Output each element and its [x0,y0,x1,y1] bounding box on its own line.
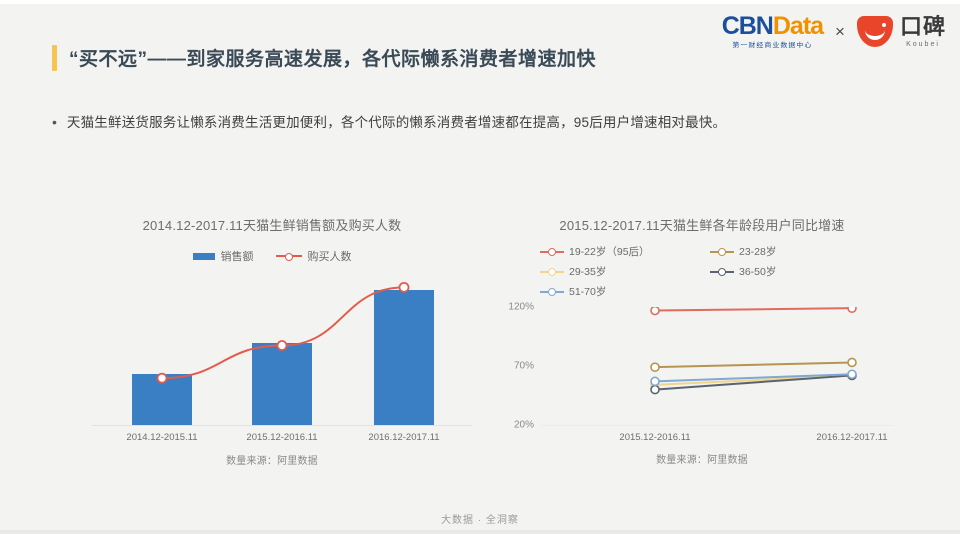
right-chart-title: 2015.12-2017.11天猫生鲜各年龄段用户同比增速 [492,215,912,234]
bar-group [252,343,312,425]
legend-label-buyers: 购买人数 [308,248,352,264]
koubei-name-en: Koubei [906,41,940,48]
bullet-row: • 天猫生鲜送货服务让懒系消费生活更加便利，各个代际的懒系消费者增速都在提高，9… [52,114,726,132]
legend-label-29-35: 29-35岁 [569,264,606,279]
cbndata-tagline: 第一财经商业数据中心 [732,42,812,48]
legend-swatch-23-28-icon [710,248,734,256]
right-chart-plot: 120%70%20% 2015.12-2016.112016.12-2017.1… [540,307,894,425]
legend-label-23-28: 23-28岁 [739,244,776,259]
slide-top-edge [0,0,960,4]
bullet-text: 天猫生鲜送货服务让懒系消费生活更加便利，各个代际的懒系消费者增速都在提高，95后… [67,114,726,132]
title-accent-bar [52,45,57,71]
legend-swatch-36-50-icon [710,268,734,276]
legend-item-36-50[interactable]: 36-50岁 [710,264,860,279]
y-axis-tick-label: 20% [514,420,534,431]
bullet-marker: • [52,114,57,131]
koubei-smile-icon [857,16,893,47]
bar-group [132,374,192,425]
bar [132,374,192,425]
legend-swatch-19-22-icon [540,248,564,256]
slide-footer: 大数据 · 全洞察 [0,511,960,526]
koubei-name-cn: 口碑 [900,16,946,38]
cbndata-wordmark-data: Data [773,12,823,40]
legend-swatch-line-icon [276,252,302,260]
legend-item-sales[interactable]: 销售额 [193,248,254,264]
x-axis-label: 2014.12-2015.11 [126,432,197,443]
bar [374,290,434,425]
legend-label-36-50: 36-50岁 [739,264,776,279]
brand-lockup: CBNData 第一财经商业数据中心 × 口碑 Koubei [722,14,946,49]
left-chart-bars [92,276,472,425]
legend-item-buyers[interactable]: 购买人数 [276,248,352,264]
legend-label-19-22: 19-22岁（95后） [569,244,650,259]
right-chart-source: 数量来源：阿里数据 [492,451,912,466]
legend-item-51-70[interactable]: 51-70岁 [540,284,710,299]
left-chart-source: 数量来源：阿里数据 [62,452,482,467]
right-chart-lines [540,307,894,425]
legend-label-51-70: 51-70岁 [569,284,606,299]
slide-bottom-edge [0,530,960,534]
right-chart-legend: 19-22岁（95后） 23-28岁 29-35岁 36-50岁 51-70岁 [540,244,912,299]
slide-title-row: “买不远”——到家服务高速发展，各代际懒系消费者增速加快 [52,44,596,71]
left-chart-plot: 2014.12-2015.112015.12-2016.112016.12-20… [92,276,472,426]
x-axis-label: 2015.12-2016.11 [619,432,690,443]
koubei-wordmark: 口碑 Koubei [900,16,946,48]
right-chart-x-labels: 2015.12-2016.112016.12-2017.11 [540,432,894,448]
y-axis-tick-label: 120% [508,302,534,313]
cbndata-wordmark: CBNData [722,14,823,39]
brand-separator-x: × [835,22,845,42]
bar [252,343,312,425]
bar-group [374,290,434,425]
slide-root: CBNData 第一财经商业数据中心 × 口碑 Koubei “买不远”——到家… [0,0,960,534]
charts-region: 2014.12-2017.11天猫生鲜销售额及购买人数 销售额 购买人数 201… [0,215,960,505]
cbndata-wordmark-cbn: CBN [722,12,773,40]
koubei-logo: 口碑 Koubei [857,16,946,48]
x-axis-label: 2016.12-2017.11 [816,432,887,443]
legend-item-19-22[interactable]: 19-22岁（95后） [540,244,710,259]
legend-swatch-bar-icon [193,253,215,260]
left-chart-x-labels: 2014.12-2015.112015.12-2016.112016.12-20… [92,426,472,446]
chart-age-growth: 2015.12-2017.11天猫生鲜各年龄段用户同比增速 19-22岁（95后… [492,215,912,466]
legend-label-sales: 销售额 [221,248,254,264]
legend-item-23-28[interactable]: 23-28岁 [710,244,860,259]
grid-line [540,425,894,426]
legend-swatch-51-70-icon [540,288,564,296]
x-axis-label: 2016.12-2017.11 [368,432,439,443]
x-axis-label: 2015.12-2016.11 [246,432,317,443]
page-title: “买不远”——到家服务高速发展，各代际懒系消费者增速加快 [69,44,596,71]
left-chart-legend: 销售额 购买人数 [62,248,482,264]
legend-swatch-29-35-icon [540,268,564,276]
chart-sales-and-buyers: 2014.12-2017.11天猫生鲜销售额及购买人数 销售额 购买人数 201… [62,215,482,467]
left-chart-title: 2014.12-2017.11天猫生鲜销售额及购买人数 [62,215,482,234]
y-axis-tick-label: 70% [514,361,534,372]
cbndata-logo: CBNData 第一财经商业数据中心 [722,14,823,49]
legend-item-29-35[interactable]: 29-35岁 [540,264,710,279]
